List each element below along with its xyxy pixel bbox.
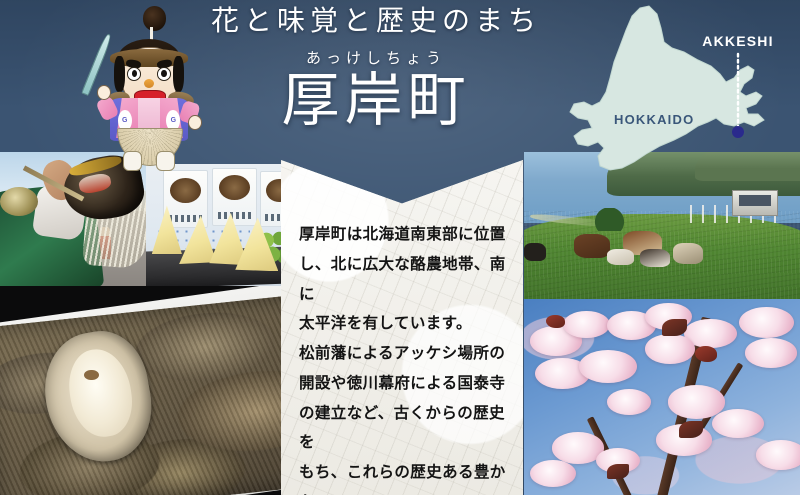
pasture-photo-horse bbox=[524, 243, 546, 261]
mascot-sideburn bbox=[114, 56, 125, 92]
akkeshi-town-banner: 獅子舞 — festival lion dance performer in g… bbox=[0, 0, 800, 495]
sakura-photo-blossom bbox=[745, 338, 797, 367]
map-label-hokkaido: HOKKAIDO bbox=[614, 112, 694, 127]
pasture-photo-horse bbox=[574, 234, 610, 258]
sakura-photo-leaf bbox=[662, 319, 687, 337]
sakura-photo-blossom bbox=[712, 409, 764, 438]
pasture-photo-bush bbox=[590, 208, 629, 232]
photo-cherry-blossoms: 桜 — pink cherry blossoms against a blue … bbox=[524, 299, 800, 495]
pasture-photo-horse bbox=[607, 249, 635, 265]
mascot-sideburn bbox=[173, 56, 184, 92]
description-line: もち、これらの歴史ある豊かな bbox=[299, 458, 509, 495]
mascot-eye bbox=[157, 67, 171, 81]
description-line: 太平洋を有しています。 bbox=[299, 309, 509, 339]
sakura-photo-blossom bbox=[756, 440, 800, 469]
mascot-topknot bbox=[143, 6, 167, 31]
description-line: し、北に広大な酪農地帯、南に bbox=[299, 250, 509, 310]
hokkaido-map: HOKKAIDO AKKESHI bbox=[548, 4, 800, 176]
mascot-eye bbox=[127, 67, 141, 81]
photo-cheese: チーズ — wedges of cheese on a dark slate b… bbox=[146, 164, 290, 286]
description-line: 松前藩によるアッケシ場所の bbox=[299, 339, 509, 369]
lion-photo-bell bbox=[0, 187, 38, 216]
town-mascot: samurai character with sword, scallop-sh… bbox=[95, 6, 203, 171]
mascot-foot bbox=[156, 151, 175, 171]
sakura-photo-bud bbox=[546, 315, 565, 329]
tagline: 花と味覚と歴史のまち bbox=[196, 6, 556, 37]
description-text: 厚岸町は北海道南東部に位置 し、北に広大な酪農地帯、南に 太平洋を有しています。… bbox=[299, 220, 509, 495]
town-name: 厚岸町 bbox=[196, 70, 556, 131]
pasture-photo-signboard bbox=[732, 190, 778, 216]
hokkaido-shape bbox=[570, 6, 764, 170]
town-name-reading: あっけしちょう bbox=[196, 47, 556, 68]
sakura-photo-blossom bbox=[645, 334, 695, 363]
pasture-photo-horse bbox=[640, 249, 670, 267]
photo-oysters: 牡蠣 — fresh oysters in a white tray, one … bbox=[0, 286, 290, 495]
photo-lion-dance: 獅子舞 — festival lion dance performer in g… bbox=[0, 152, 146, 286]
map-label-akkeshi: AKKESHI bbox=[702, 33, 773, 49]
description-panel: 厚岸町は北海道南東部に位置 し、北に広大な酪農地帯、南に 太平洋を有しています。… bbox=[281, 160, 523, 495]
description-line: 開設や徳川幕府による国泰寺 bbox=[299, 369, 509, 399]
sakura-photo-bud bbox=[695, 346, 717, 362]
sakura-photo-blossom bbox=[607, 389, 651, 414]
description-line: の建立など、古くからの歴史を bbox=[299, 399, 509, 459]
cheese-photo-package bbox=[212, 168, 257, 226]
mascot-foot bbox=[123, 151, 142, 171]
sakura-photo-blossom bbox=[563, 311, 610, 338]
oyster-photo-meat-spot bbox=[84, 370, 99, 380]
akkeshi-map-marker bbox=[732, 126, 744, 138]
description-line: 厚岸町は北海道南東部に位置 bbox=[299, 220, 509, 250]
headline-block: 花と味覚と歴史のまち あっけしちょう 厚岸町 bbox=[196, 6, 556, 131]
mascot-description: samurai character with sword, scallop-sh… bbox=[95, 6, 96, 7]
pasture-photo-horse bbox=[673, 243, 703, 264]
